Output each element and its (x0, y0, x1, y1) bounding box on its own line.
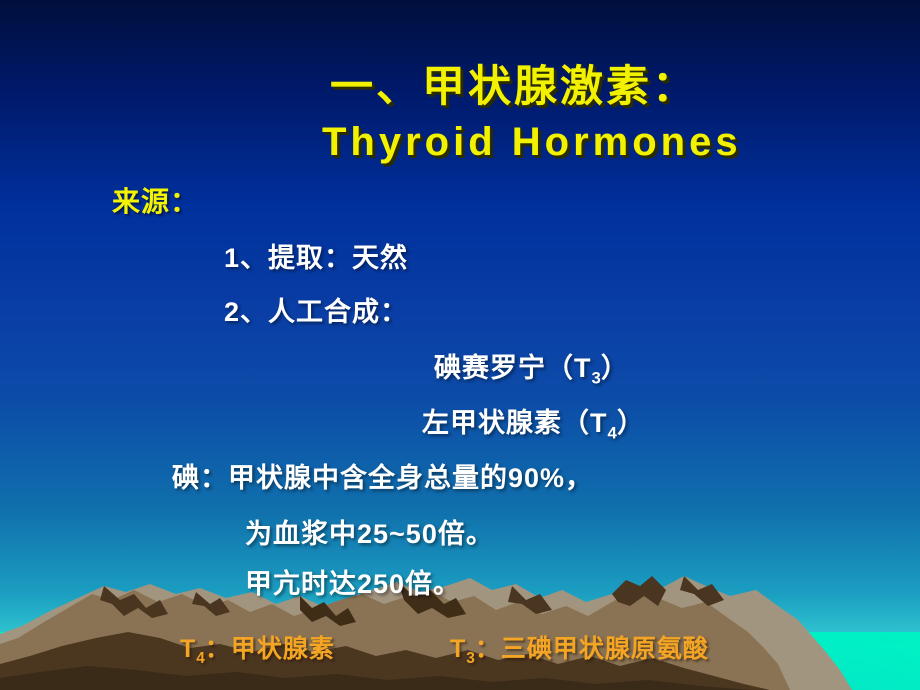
footer-t4-subscript: 4 (196, 650, 205, 667)
drug-liothyronine-tail: ） (601, 353, 629, 383)
iodine-line-1: 碘：甲状腺中含全身总量的90%， (172, 465, 593, 492)
list-item-extraction: 1、提取：天然 (224, 245, 408, 272)
page-title-english: Thyroid Hormones (322, 122, 742, 162)
footer-t3-prefix: T (450, 635, 466, 663)
list-item-synthesis: 2、人工合成： (224, 299, 408, 326)
drug-levothyroxine-subscript: 4 (608, 423, 617, 442)
iodine-line-2: 为血浆中25~50倍。 (245, 521, 494, 548)
footer-t4-text: ：甲状腺素 (205, 635, 335, 663)
footer-t4-prefix: T (180, 635, 196, 663)
drug-liothyronine: 碘赛罗宁（T3） (434, 355, 629, 387)
drug-levothyroxine-name: 左甲状腺素（T (422, 408, 608, 438)
footer-t3-subscript: 3 (466, 650, 475, 667)
page-title-chinese: 一、甲状腺激素： (330, 66, 698, 109)
footer-t3-text: ：三碘甲状腺原氨酸 (475, 635, 709, 663)
iodine-line-3: 甲亢时达250倍。 (245, 571, 461, 598)
footer-t4-definition: T4：甲状腺素 (180, 637, 335, 667)
footer-t3-definition: T3：三碘甲状腺原氨酸 (450, 637, 709, 667)
slide-canvas: 一、甲状腺激素： Thyroid Hormones 来源： 1、提取：天然 2、… (0, 0, 920, 690)
drug-levothyroxine-tail: ） (617, 408, 645, 438)
drug-levothyroxine: 左甲状腺素（T4） (422, 410, 645, 442)
source-label: 来源： (112, 188, 199, 216)
drug-liothyronine-subscript: 3 (592, 368, 601, 387)
drug-liothyronine-name: 碘赛罗宁（T (434, 353, 592, 383)
